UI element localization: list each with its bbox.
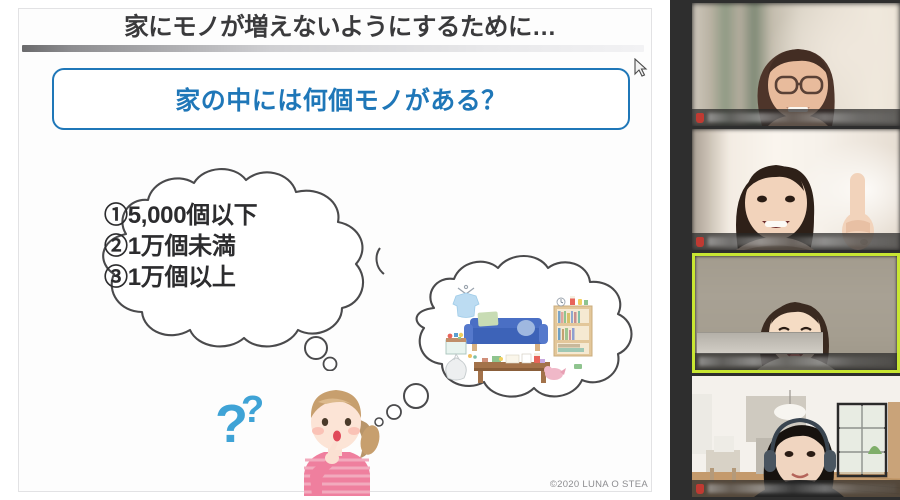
participant-name-bar <box>692 109 900 126</box>
stuffed-toy-icon <box>544 366 566 380</box>
list-item: ③1万個以上 <box>104 262 344 293</box>
mouse-pointer-icon <box>634 58 648 78</box>
participant-tile[interactable] <box>692 376 900 497</box>
mic-muted-icon <box>696 113 704 123</box>
participant-portrait <box>692 3 900 126</box>
mic-muted-icon <box>696 484 704 494</box>
participant-name-bar <box>692 233 900 250</box>
mic-muted-icon <box>696 237 704 247</box>
participant-tile-active-speaker[interactable] <box>692 253 900 373</box>
participant-name-label <box>699 357 893 366</box>
thought-cloud-options: ①5,000個以下 ②1万個未満 ③1万個以上 <box>58 156 388 371</box>
participant-name-label <box>708 113 896 122</box>
screen-share-meeting-view: 家にモノが増えないようにするために… 家の中には何個モノがある？ ①5,000個… <box>0 0 900 500</box>
participant-video-strip[interactable] <box>692 0 900 500</box>
svg-text:?: ? <box>241 389 264 431</box>
thinking-woman-illustration <box>278 378 390 496</box>
laptop-screen <box>697 332 823 354</box>
laundry-bag-icon <box>446 354 467 380</box>
coffee-table-icon <box>474 353 550 383</box>
room-illustration <box>434 282 604 387</box>
bookshelf-icon <box>554 296 592 356</box>
blue-sofa-icon <box>464 311 548 351</box>
list-item: ②1万個未満 <box>104 231 344 262</box>
thought-cloud-cluttered-room <box>372 246 662 428</box>
title-divider-rule <box>22 45 644 52</box>
participant-name-bar <box>695 353 897 370</box>
panel-divider <box>670 0 692 500</box>
copyright-notice: ©2020 LUNA O STEA <box>470 479 648 490</box>
shared-slide-area[interactable]: 家にモノが増えないようにするために… 家の中には何個モノがある？ ①5,000個… <box>0 0 670 500</box>
participant-name-label <box>708 237 896 246</box>
subtitle-text: 家の中には何個モノがある？ <box>175 81 507 117</box>
list-item: ①5,000個以下 <box>104 200 344 231</box>
subtitle-callout-box: 家の中には何個モノがある？ <box>52 68 630 130</box>
participant-name-label <box>708 484 896 493</box>
participant-portrait <box>692 376 900 497</box>
participant-tile[interactable] <box>692 129 900 250</box>
options-list: ①5,000個以下 ②1万個未満 ③1万個以上 <box>104 200 344 293</box>
green-block-icon <box>574 364 582 369</box>
participant-tile[interactable] <box>692 3 900 126</box>
participant-portrait <box>692 129 900 250</box>
participant-name-bar <box>692 480 900 497</box>
hanging-shirt-icon <box>453 285 479 317</box>
slide-title: 家にモノが増えないようにするために… <box>80 10 600 46</box>
